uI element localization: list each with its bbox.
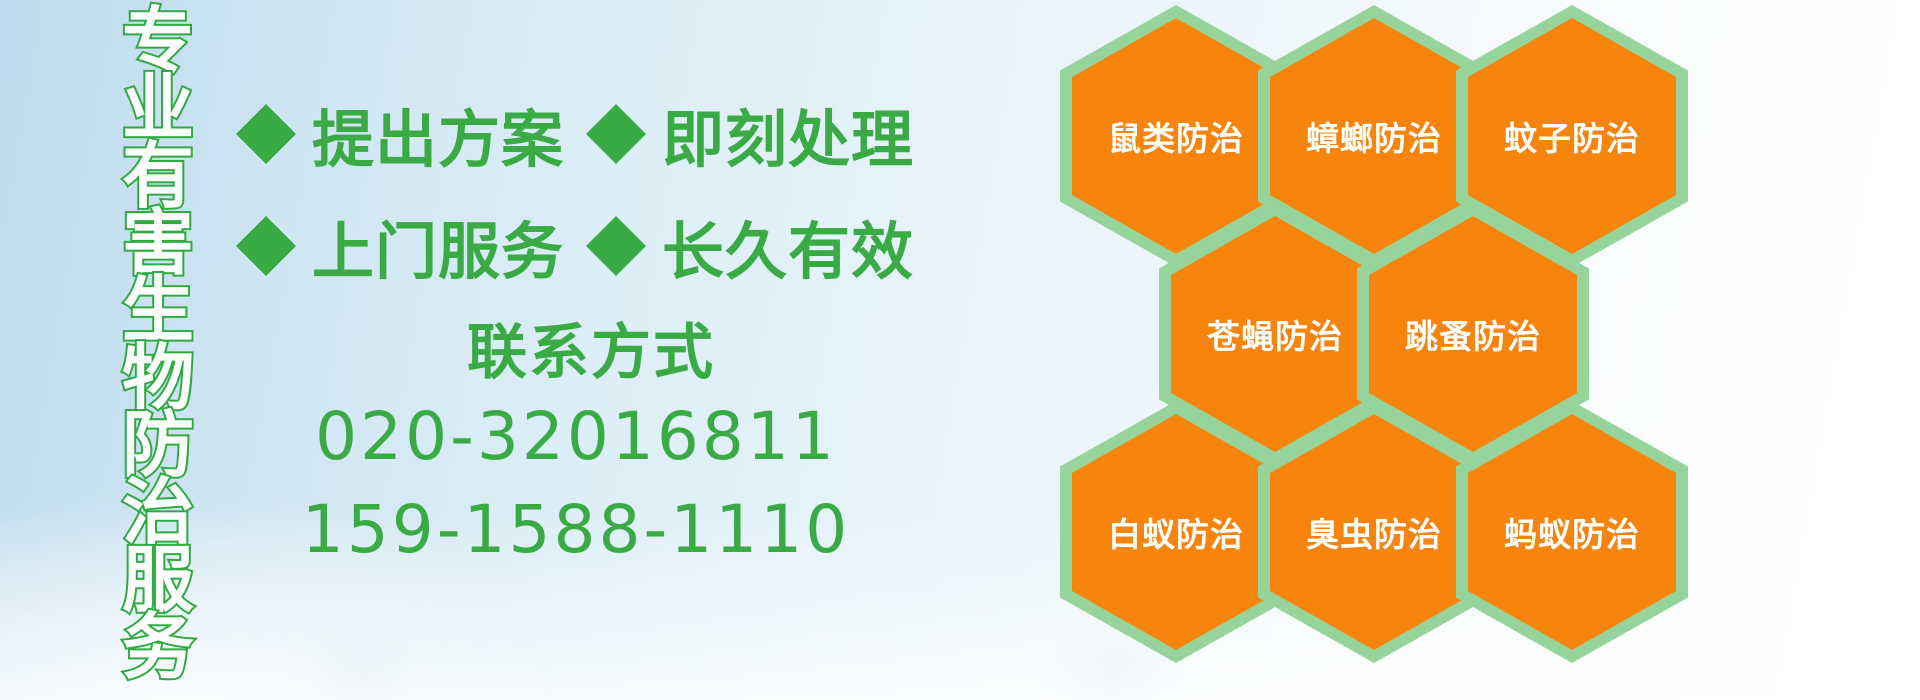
vertical-title-char: 务: [122, 614, 194, 681]
promo-banner: 专 业 有 害 生 物 防 治 服 务 提出方案 即刻处理 上门服务: [0, 0, 1920, 700]
vertical-title-char: 服: [122, 547, 194, 614]
feature-label: 即刻处理: [662, 89, 914, 179]
phone-landline[interactable]: 020-32016811: [236, 395, 916, 478]
service-label: 蚊子防治: [1504, 112, 1640, 160]
service-label: 鼠类防治: [1108, 112, 1244, 160]
contact-title: 联系方式: [266, 322, 916, 385]
vertical-title: 专 业 有 害 生 物 防 治 服 务: [104, 8, 212, 698]
service-label: 白蚁防治: [1108, 508, 1244, 556]
service-label: 苍蝇防治: [1207, 310, 1343, 358]
feature-item: 即刻处理: [586, 89, 914, 179]
service-honeycomb: 鼠类防治 蟑螂防治 蚊子防治 苍蝇防治 跳蚤防治 白蚁防治: [1060, 0, 1820, 700]
feature-row: 提出方案 即刻处理: [236, 78, 896, 190]
phone-mobile[interactable]: 159-1588-1110: [236, 488, 916, 571]
vertical-title-char: 害: [122, 210, 194, 277]
vertical-title-char: 生: [122, 277, 194, 344]
feature-item: 长久有效: [586, 201, 914, 291]
service-label: 蟑螂防治: [1306, 112, 1442, 160]
feature-item: 提出方案: [236, 89, 564, 179]
diamond-icon: [586, 74, 646, 134]
service-label: 臭虫防治: [1306, 508, 1442, 556]
diamond-icon: [586, 186, 646, 246]
service-label: 蚂蚁防治: [1504, 508, 1640, 556]
feature-row: 上门服务 长久有效: [236, 190, 896, 302]
vertical-title-char: 专: [122, 8, 194, 75]
diamond-icon: [236, 74, 296, 134]
feature-label: 提出方案: [312, 89, 564, 179]
background-blob: [300, 620, 420, 700]
service-label: 跳蚤防治: [1405, 310, 1541, 358]
vertical-title-char: 业: [122, 75, 194, 142]
vertical-title-char: 物: [122, 345, 194, 412]
vertical-title-char: 治: [122, 479, 194, 546]
vertical-title-char: 防: [122, 412, 194, 479]
diamond-icon: [236, 186, 296, 246]
feature-item: 上门服务: [236, 201, 564, 291]
vertical-title-char: 有: [122, 143, 194, 210]
feature-label: 长久有效: [662, 201, 914, 291]
service-hexagon[interactable]: 蚂蚁防治: [1456, 401, 1688, 663]
contact-block: 联系方式 020-32016811 159-1588-1110: [236, 322, 916, 571]
feature-list: 提出方案 即刻处理 上门服务 长久有效: [236, 78, 896, 302]
feature-label: 上门服务: [312, 201, 564, 291]
